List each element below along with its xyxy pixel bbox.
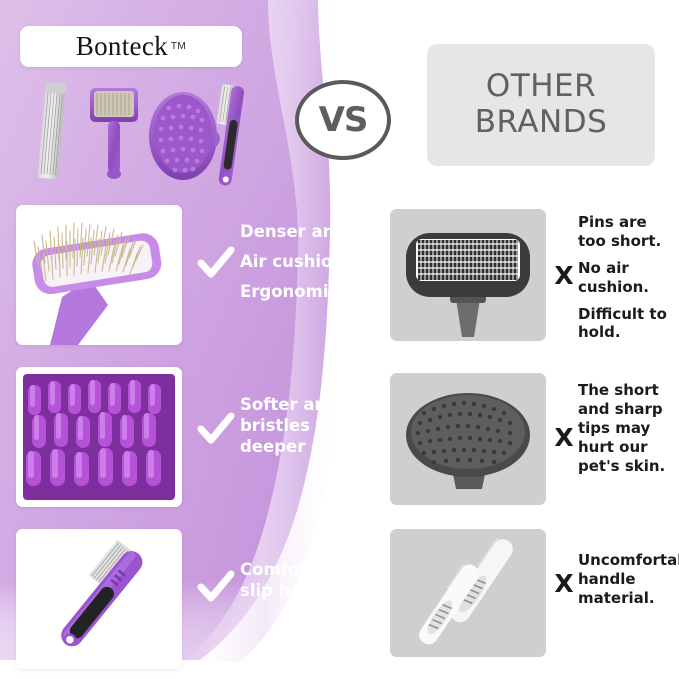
- competitor-product-image-1: [390, 209, 546, 341]
- competitor-product-image-2: [390, 373, 546, 505]
- purple-flea-comb-nonslip-handle-icon: [16, 529, 182, 669]
- brand-name: Bonteck: [76, 31, 168, 62]
- check-icon: [196, 567, 236, 607]
- bonteck-product-image-1: [16, 205, 182, 345]
- comparison-row-2: Softer and longer bristles for a deeper …: [0, 367, 679, 517]
- gray-slicker-brush-icon: [390, 209, 546, 341]
- x-icon: X: [553, 569, 575, 598]
- product-lineup: [24, 78, 274, 193]
- purple-slicker-brush-closeup-icon: [16, 205, 182, 345]
- drawback-line: No air cushion.: [578, 259, 679, 297]
- competitor-drawbacks-2: The short and sharp tips may hurt our pe…: [578, 381, 679, 475]
- other-brands-line2: BRANDS: [475, 105, 608, 141]
- bonteck-benefits-3: Comfortable non-slip handle.: [240, 559, 410, 601]
- slicker-brush-icon: [90, 88, 138, 179]
- bath-brush-icon: [149, 92, 220, 180]
- brand-logo-box: BonteckTM: [20, 26, 242, 67]
- gray-oval-bath-brush-icon: [390, 373, 546, 505]
- competitor-drawbacks-1: Pins are too short. No air cushion. Diff…: [578, 213, 679, 342]
- other-brands-header: OTHER BRANDS: [427, 44, 655, 166]
- bonteck-product-image-2: [16, 367, 182, 507]
- white-plastic-combs-pair-icon: [390, 529, 546, 657]
- drawback-line: Pins are too short.: [578, 213, 679, 251]
- competitor-drawbacks-3: Uncomfortable handle material.: [578, 551, 678, 608]
- bonteck-benefits-2: Softer and longer bristles for a deeper …: [240, 394, 410, 457]
- x-icon: X: [553, 423, 575, 452]
- drawback-line: The short and sharp tips may hurt our pe…: [578, 381, 679, 475]
- comb-icon: [38, 82, 66, 179]
- drawback-line: Difficult to hold.: [578, 305, 679, 343]
- vs-label: VS: [319, 100, 368, 140]
- benefit-line: Comfortable non-slip handle.: [240, 559, 410, 601]
- comparison-infographic: BonteckTM: [0, 0, 679, 679]
- other-brands-line1: OTHER: [486, 69, 596, 105]
- check-icon: [196, 409, 236, 449]
- check-icon: [196, 243, 236, 283]
- vs-badge: VS: [295, 80, 391, 160]
- purple-silicone-bristles-closeup-icon: [16, 367, 182, 507]
- competitor-product-image-3: [390, 529, 546, 657]
- comparison-row-3: Comfortable non-slip handle.: [0, 529, 679, 669]
- benefit-line: Softer and longer bristles for a deeper …: [240, 394, 410, 457]
- comparison-row-1: Denser and longer pins. Air cushion Ergo…: [0, 205, 679, 355]
- trademark-symbol: TM: [171, 41, 186, 52]
- x-icon: X: [553, 261, 575, 290]
- drawback-line: Uncomfortable handle material.: [578, 551, 678, 608]
- bonteck-product-image-3: [16, 529, 182, 669]
